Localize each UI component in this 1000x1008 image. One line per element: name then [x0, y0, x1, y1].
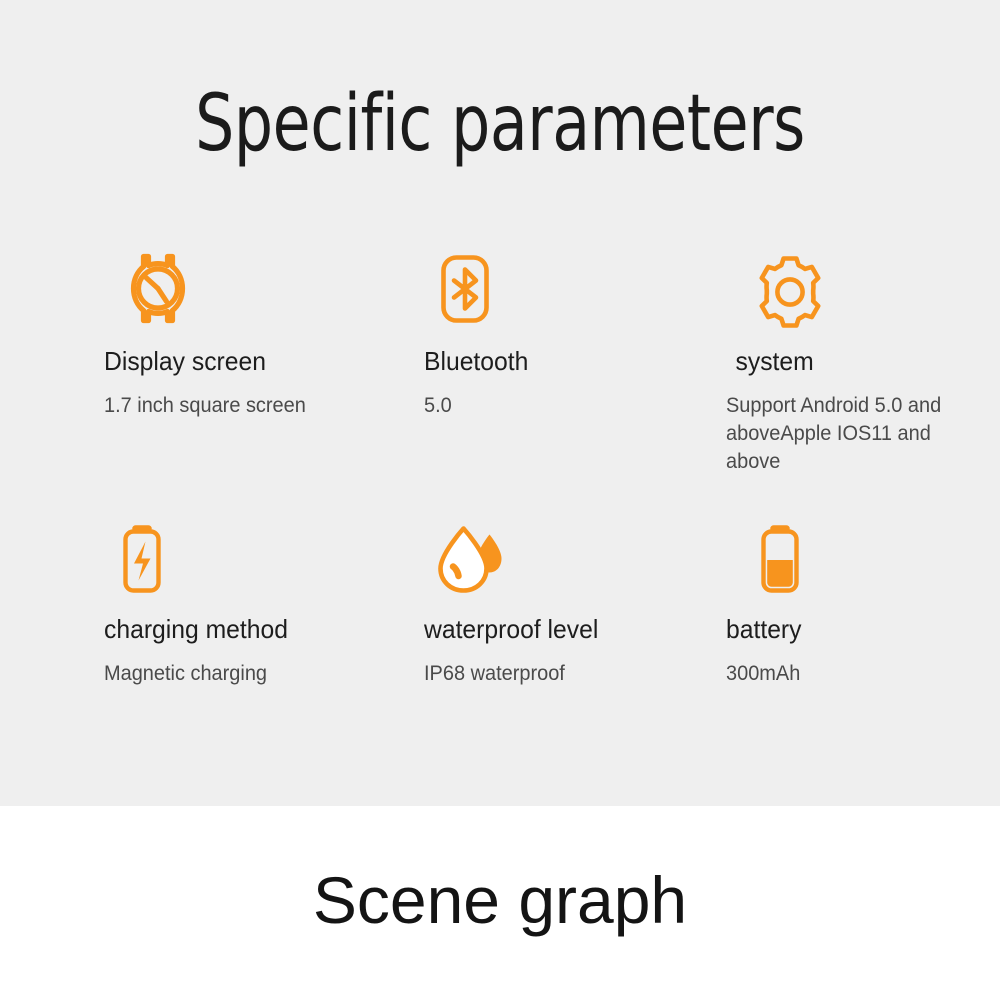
spec-row-1: Display screen 1.7 inch square screen Bl… — [0, 252, 1000, 520]
spec-row-2: charging method Magnetic charging waterp… — [0, 520, 1000, 788]
spec-label: Bluetooth — [424, 344, 700, 378]
battery-icon — [752, 520, 998, 598]
spec-item-battery: battery 300mAh — [726, 520, 998, 688]
spec-value: Support Android 5.0 and aboveApple IOS11… — [726, 392, 984, 476]
spec-value: IP68 waterproof — [424, 660, 700, 688]
gear-icon — [750, 252, 998, 330]
water-drop-icon — [432, 520, 714, 598]
charging-battery-icon — [114, 520, 404, 598]
watch-icon — [116, 252, 404, 330]
spec-grid: Display screen 1.7 inch square screen Bl… — [0, 252, 1000, 788]
spec-value: 300mAh — [726, 660, 984, 688]
spec-value: Magnetic charging — [104, 660, 389, 688]
product-spec-page: Specific parameters — [0, 0, 1000, 1008]
spec-item-display-screen: Display screen 1.7 inch square screen — [104, 252, 404, 420]
spec-label: system — [726, 344, 984, 378]
scene-graph-title: Scene graph — [0, 860, 1000, 940]
spec-label: battery — [726, 612, 984, 646]
spec-item-waterproof-level: waterproof level IP68 waterproof — [424, 520, 714, 688]
spec-value: 5.0 — [424, 392, 700, 420]
spec-value: 1.7 inch square screen — [104, 392, 389, 420]
specific-parameters-panel: Specific parameters — [0, 0, 1000, 806]
bluetooth-icon — [430, 252, 714, 330]
spec-label: waterproof level — [424, 612, 700, 646]
spec-item-system: system Support Android 5.0 and aboveAppl… — [726, 252, 998, 476]
scene-graph-section: Scene graph — [0, 806, 1000, 1008]
spec-item-bluetooth: Bluetooth 5.0 — [424, 252, 714, 420]
page-title: Specific parameters — [60, 76, 940, 172]
spec-item-charging-method: charging method Magnetic charging — [104, 520, 404, 688]
spec-label: Display screen — [104, 344, 389, 378]
spec-label: charging method — [104, 612, 389, 646]
